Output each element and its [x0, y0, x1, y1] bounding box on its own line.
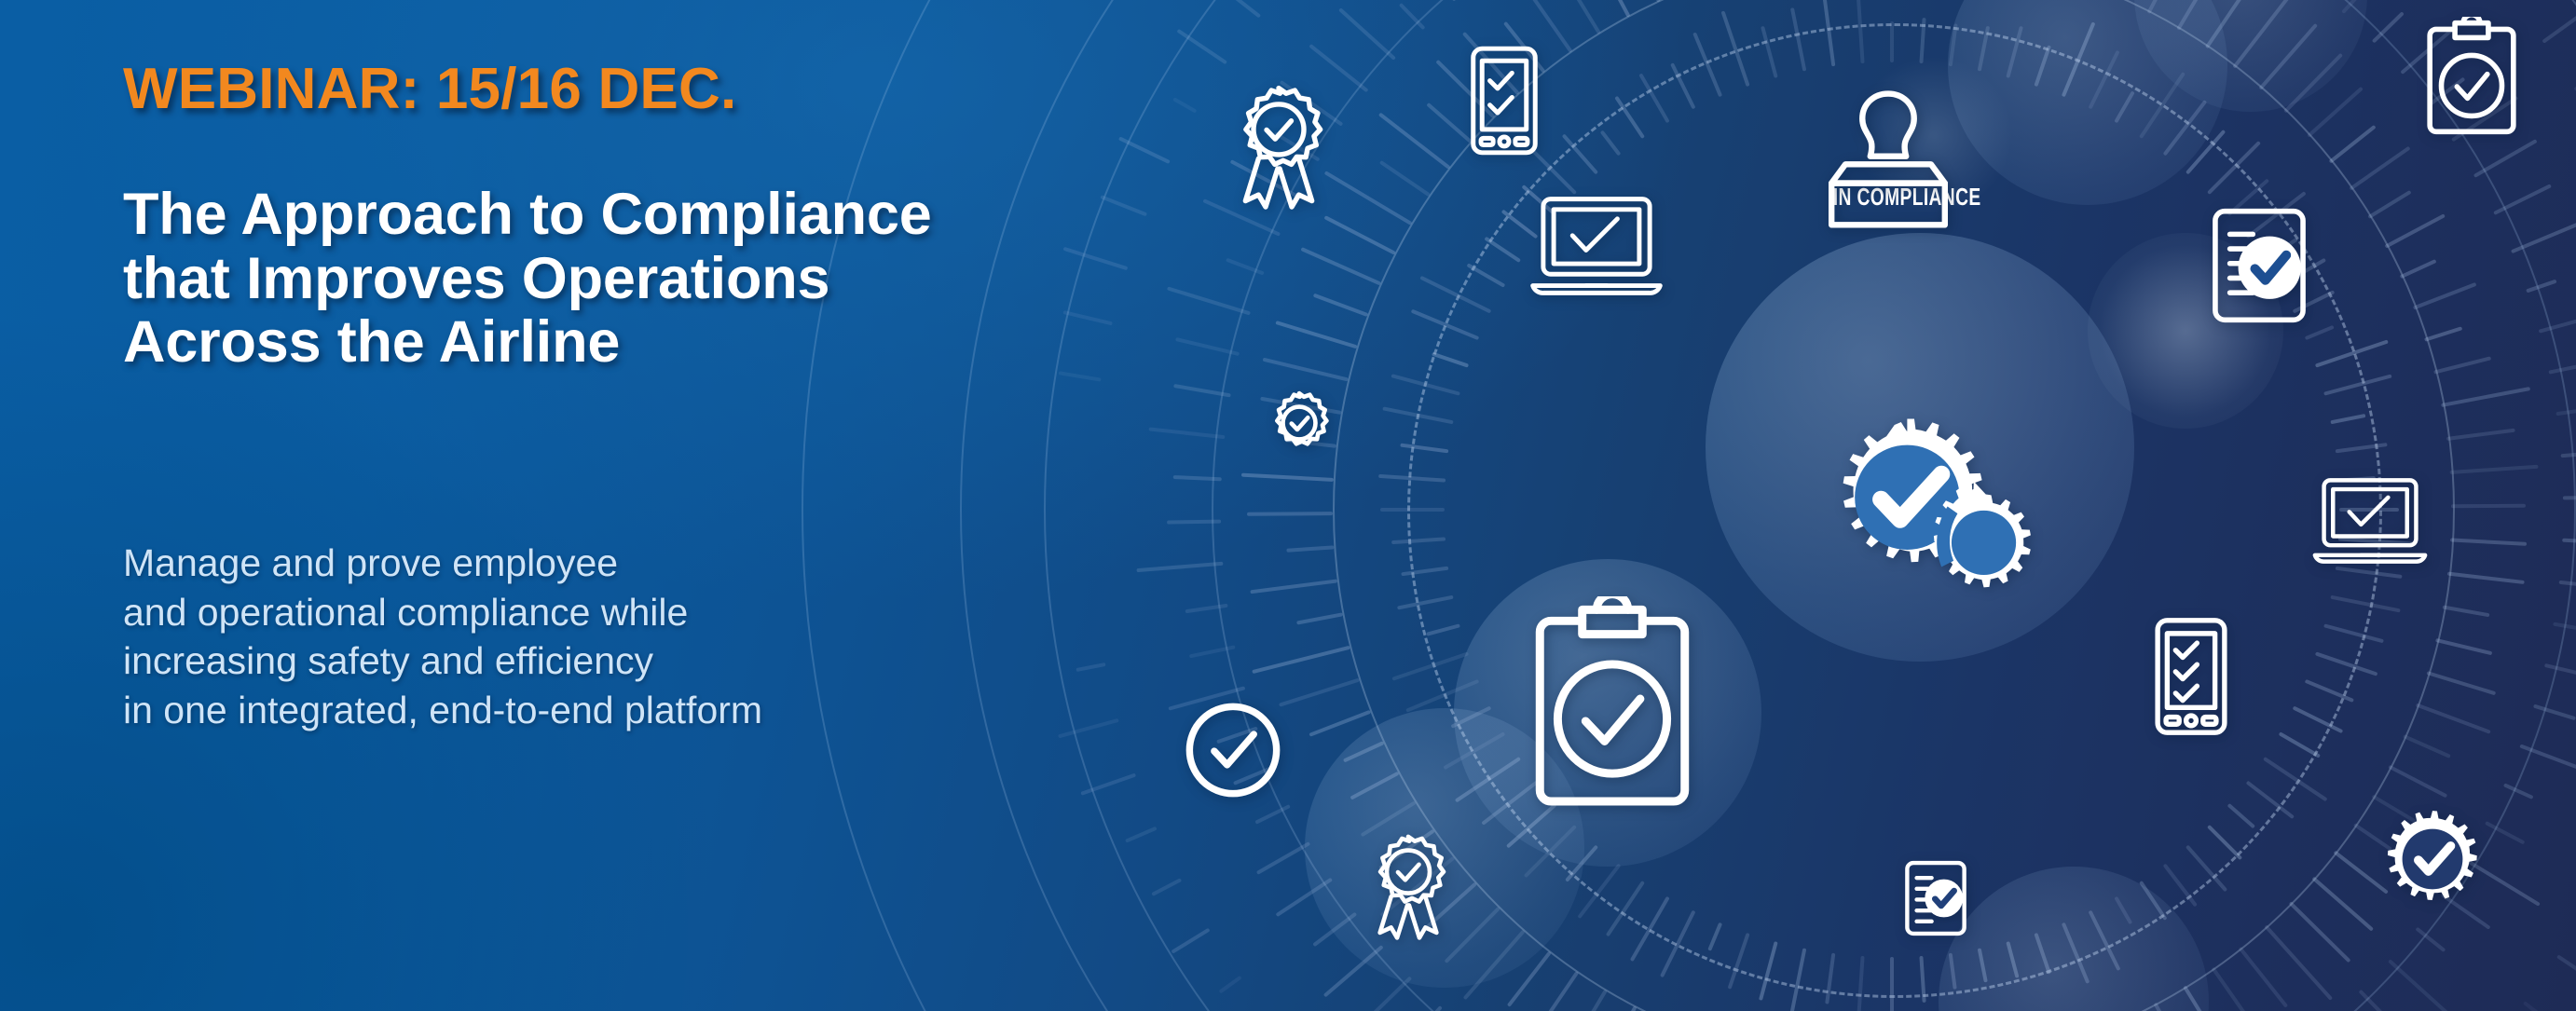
gear-check-bottom-right-icon — [2382, 809, 2483, 909]
webinar-banner: IN COMPLIANCE — [0, 0, 2576, 1011]
smartphone-checklist-right-icon — [2153, 615, 2229, 738]
headline-line: The Approach to Compliance — [123, 183, 932, 247]
body-line: and operational compliance while — [123, 588, 762, 637]
headline-line: Across the Airline — [123, 310, 932, 375]
rosette-check-small-icon — [1266, 389, 1333, 457]
award-ribbon-check-icon — [1228, 82, 1329, 217]
body-copy: Manage and prove employee and operationa… — [123, 539, 762, 735]
eyebrow-webinar-date: WEBINAR: 15/16 DEC. — [123, 56, 736, 122]
body-line: in one integrated, end-to-end platform — [123, 686, 762, 735]
document-check-badge-icon — [2209, 205, 2309, 326]
document-check-bottom-icon — [1903, 857, 1968, 939]
rubber-stamp-in-compliance-icon — [1814, 86, 1963, 235]
body-line: increasing safety and efficiency — [123, 636, 762, 686]
smartphone-checklist-icon — [1469, 45, 1540, 157]
page-title: The Approach to Compliance that Improves… — [123, 183, 932, 375]
laptop-check-right-icon — [2311, 475, 2429, 567]
clipboard-circle-check-icon — [1528, 596, 1696, 813]
clipboard-check-top-right-icon — [2423, 17, 2520, 138]
body-line: Manage and prove employee — [123, 539, 762, 588]
headline-line: that Improves Operations — [123, 247, 932, 311]
award-ribbon-bottom-icon — [1365, 827, 1451, 950]
laptop-check-icon — [1528, 194, 1665, 298]
arc-ring — [802, 0, 2576, 1011]
circle-check-large-icon — [1184, 701, 1282, 799]
gears-check-icon — [1806, 401, 2048, 624]
